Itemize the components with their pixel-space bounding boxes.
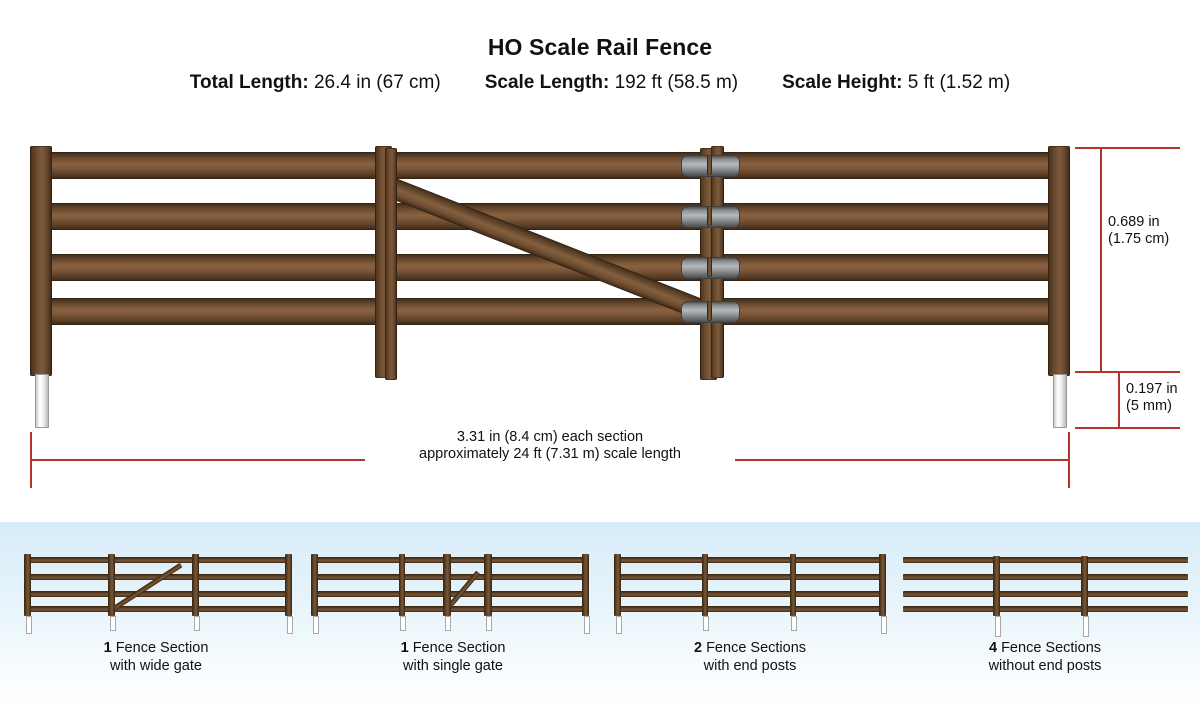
hinge-gap-3 [707,257,712,277]
fence-rail-2 [30,203,1070,230]
dim-width-line-left [30,459,365,461]
hinge-gap-2 [707,206,712,226]
thumb-pin [703,616,709,631]
thumb-rail [614,591,886,597]
thumb-post [484,554,492,616]
hinge-gap-4 [707,301,712,321]
dim-height-line2: (1.75 cm) [1108,231,1169,247]
thumb-rail [903,591,1188,597]
fence-rail-4 [30,298,1070,325]
thumb-pin [995,616,1001,637]
variant-count: 1 [401,640,409,656]
variant-with-end-posts-caption: 2 Fence Sections with end posts [600,639,900,675]
thumb-pin [194,616,200,631]
thumb-post [993,556,1000,616]
variant-without-end-posts[interactable]: 4 Fence Sections without end posts [895,522,1195,709]
dim-top-extension [1075,147,1180,149]
thumb-post [1081,556,1088,616]
thumb-post [285,554,292,616]
thumb-gate-brace [113,563,183,611]
variant-wide-gate-thumbnail [6,538,306,638]
variant-single-gate-thumbnail [303,538,603,638]
thumb-pin [616,616,622,634]
variant-wide-gate-caption: 1 Fence Section with wide gate [6,639,306,675]
thumb-pin [110,616,116,631]
dim-pin-bottom-extension [1075,427,1180,429]
variant-without-end-posts-caption: 4 Fence Sections without end posts [895,639,1195,675]
thumb-rail [614,574,886,580]
thumb-post [24,554,31,616]
dim-section-width-label: 3.31 in (8.4 cm) each section approximat… [350,429,750,463]
dim-pin-line2: (5 mm) [1126,398,1172,414]
thumb-pin [445,616,451,631]
variant-with-end-posts-thumbnail [600,538,900,638]
thumb-rail [614,557,886,563]
thumb-rail [614,606,886,612]
thumb-post [614,554,621,616]
variant-with-end-posts[interactable]: 2 Fence Sections with end posts [600,522,900,709]
hinge-gap-1 [707,155,712,175]
dim-pin-arrow [1118,371,1120,428]
dim-pin-line1: 0.197 in [1126,381,1178,397]
thumb-pin [881,616,887,634]
fence-post-left-end [30,146,52,376]
variant-label-line2: without end posts [989,658,1102,674]
dim-ground-extension [1075,371,1180,373]
dim-width-line-right [735,459,1070,461]
variant-label-line1: Fence Section [116,640,209,656]
variant-label-line1: Fence Sections [706,640,806,656]
variant-count: 1 [104,640,112,656]
dim-height-line1: 0.689 in [1108,214,1160,230]
variant-label-line2: with wide gate [110,658,202,674]
thumb-post [702,554,708,616]
mounting-pin-left [35,374,49,428]
thumb-pin [26,616,32,634]
thumb-post [399,554,405,616]
thumb-post [108,554,115,616]
dim-pin-label: 0.197 in (5 mm) [1126,381,1200,415]
variant-label-line1: Fence Sections [1001,640,1101,656]
variant-count: 2 [694,640,702,656]
dim-section-width-line2: approximately 24 ft (7.31 m) scale lengt… [419,446,681,462]
variant-count: 4 [989,640,997,656]
thumb-rail [903,574,1188,580]
thumb-rail [903,557,1188,563]
thumb-rail [24,606,292,612]
thumb-pin [791,616,797,631]
fence-drawing: 0.689 in (1.75 cm) 0.197 in (5 mm) 3.31 … [0,0,1200,520]
thumb-post [879,554,886,616]
thumb-pin [287,616,293,634]
variant-single-gate[interactable]: 1 Fence Section with single gate [303,522,603,709]
fence-rail-1 [30,152,1070,179]
variant-label-line2: with end posts [704,658,797,674]
variant-wide-gate[interactable]: 1 Fence Section with wide gate [6,522,306,709]
thumb-post [790,554,796,616]
dim-section-width-line1: 3.31 in (8.4 cm) each section [457,429,643,445]
thumb-pin [1083,616,1089,637]
thumb-post [443,554,451,616]
variant-single-gate-caption: 1 Fence Section with single gate [303,639,603,675]
thumb-post [192,554,199,616]
variants-panel: 1 Fence Section with wide gate 1 Fence S… [0,522,1200,709]
fence-post-right-end [1048,146,1070,376]
mounting-pin-right [1053,374,1067,428]
dim-height-arrow [1100,147,1102,372]
thumb-pin [400,616,406,631]
gate-stile-left [385,148,397,380]
thumb-pin [313,616,319,634]
dim-height-label: 0.689 in (1.75 cm) [1108,214,1200,248]
thumb-rail [903,606,1188,612]
thumb-post [582,554,589,616]
thumb-post [311,554,318,616]
variant-without-end-posts-thumbnail [895,538,1195,638]
thumb-rail [24,557,292,563]
variant-label-line2: with single gate [403,658,503,674]
thumb-pin [486,616,492,631]
thumb-pin [584,616,590,634]
variant-label-line1: Fence Section [413,640,506,656]
thumb-rail [24,591,292,597]
